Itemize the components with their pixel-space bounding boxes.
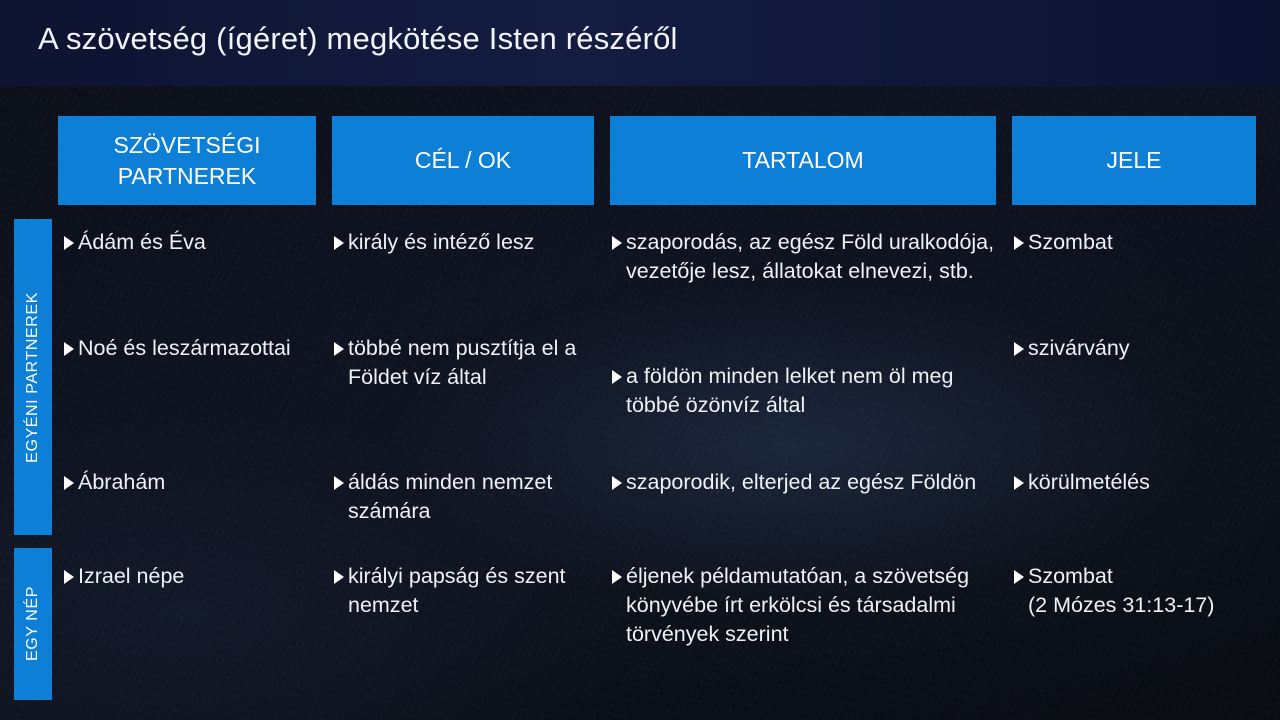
bullet-triangle-icon	[1014, 570, 1024, 584]
bullet-triangle-icon	[612, 370, 622, 384]
bullet-triangle-icon	[1014, 236, 1024, 250]
bullet-triangle-icon	[612, 476, 622, 490]
row-group-label-individual: EGYÉNI PARTNEREK	[14, 219, 52, 535]
cell-partners-row3: Ábrahám	[64, 468, 316, 497]
slide: A szövetség (ígéret) megkötése Isten rés…	[0, 0, 1280, 720]
column-header-partners-label: SZÖVETSÉGI PARTNEREK	[66, 130, 308, 191]
cell-purpose-row2: többé nem pusztítja el a Földet víz álta…	[334, 334, 596, 392]
bullet-triangle-icon	[1014, 476, 1024, 490]
cell-sign-row1: Szombat	[1014, 228, 1264, 257]
bullet-triangle-icon	[64, 236, 74, 250]
cell-purpose-row1: király és intéző lesz	[334, 228, 596, 257]
column-header-sign: JELE	[1012, 116, 1256, 205]
bullet-triangle-icon	[612, 236, 622, 250]
column-header-purpose: CÉL / OK	[332, 116, 594, 205]
bullet-triangle-icon	[334, 342, 344, 356]
bullet-triangle-icon	[334, 236, 344, 250]
bullet-triangle-icon	[334, 476, 344, 490]
cell-partners-row2: Noé és leszármazottai	[64, 334, 316, 363]
page-title: A szövetség (ígéret) megkötése Isten rés…	[38, 21, 678, 57]
cell-sign-row4-main: Szombat	[1014, 562, 1280, 591]
cell-content-row1: szaporodás, az egész Föld uralkodója, ve…	[612, 228, 1004, 286]
cell-content-row2: a földön minden lelket nem öl meg többé …	[612, 362, 1004, 420]
cell-partners-row4: Izrael népe	[64, 562, 316, 591]
cell-sign-row3: körülmetélés	[1014, 468, 1264, 497]
bullet-triangle-icon	[64, 476, 74, 490]
cell-partners-row1: Ádám és Éva	[64, 228, 316, 257]
cell-sign-row4-note: (2 Mózes 31:13-17)	[1014, 591, 1280, 620]
row-group-label-nation: EGY NÉP	[14, 548, 52, 700]
cell-sign-row4: Szombat (2 Mózes 31:13-17)	[1014, 562, 1280, 620]
cell-purpose-row4: királyi papság és szent nemzet	[334, 562, 596, 620]
bullet-triangle-icon	[334, 570, 344, 584]
bullet-triangle-icon	[612, 570, 622, 584]
bullet-triangle-icon	[64, 570, 74, 584]
column-header-sign-label: JELE	[1107, 145, 1162, 175]
cell-sign-row2: szivárvány	[1014, 334, 1264, 363]
column-header-partners: SZÖVETSÉGI PARTNEREK	[58, 116, 316, 205]
column-header-purpose-label: CÉL / OK	[415, 145, 511, 175]
cell-purpose-row3: áldás minden nemzet számára	[334, 468, 596, 526]
column-header-content-label: TARTALOM	[742, 145, 863, 175]
column-header-content: TARTALOM	[610, 116, 996, 205]
cell-content-row4: éljenek példamutatóan, a szövetség könyv…	[612, 562, 1016, 649]
bullet-triangle-icon	[1014, 342, 1024, 356]
cell-content-row3: szaporodik, elterjed az egész Földön	[612, 468, 1004, 497]
bullet-triangle-icon	[64, 342, 74, 356]
